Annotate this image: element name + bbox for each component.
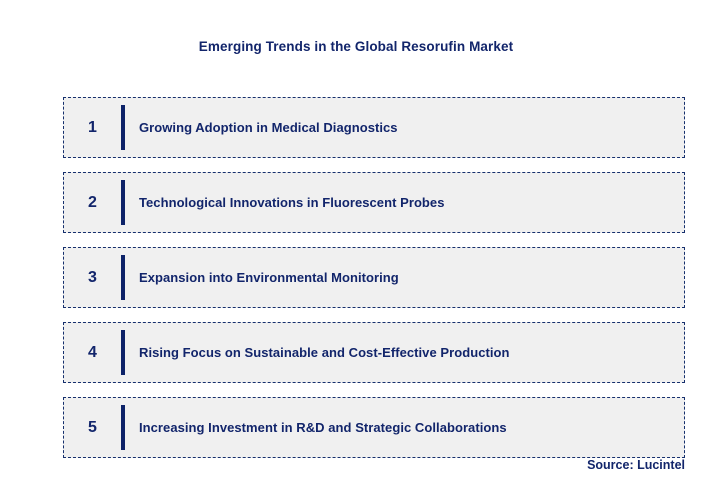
trend-label: Increasing Investment in R&D and Strateg…	[125, 419, 684, 436]
page-title: Emerging Trends in the Global Resorufin …	[0, 38, 712, 56]
trend-label: Technological Innovations in Fluorescent…	[125, 194, 684, 211]
trend-number: 4	[64, 345, 121, 361]
list-item[interactable]: 4 Rising Focus on Sustainable and Cost-E…	[63, 322, 685, 383]
list-item[interactable]: 5 Increasing Investment in R&D and Strat…	[63, 397, 685, 458]
trend-list: 1 Growing Adoption in Medical Diagnostic…	[63, 97, 685, 458]
trend-number: 5	[64, 420, 121, 436]
list-item[interactable]: 1 Growing Adoption in Medical Diagnostic…	[63, 97, 685, 158]
trend-number: 2	[64, 195, 121, 211]
list-item[interactable]: 3 Expansion into Environmental Monitorin…	[63, 247, 685, 308]
trend-label: Expansion into Environmental Monitoring	[125, 269, 684, 286]
trend-number: 1	[64, 120, 121, 136]
source-note: Source: Lucintel	[587, 458, 685, 472]
infographic-canvas: Emerging Trends in the Global Resorufin …	[0, 0, 712, 501]
list-item[interactable]: 2 Technological Innovations in Fluoresce…	[63, 172, 685, 233]
trend-label: Growing Adoption in Medical Diagnostics	[125, 119, 684, 136]
trend-number: 3	[64, 270, 121, 286]
trend-label: Rising Focus on Sustainable and Cost-Eff…	[125, 344, 684, 361]
